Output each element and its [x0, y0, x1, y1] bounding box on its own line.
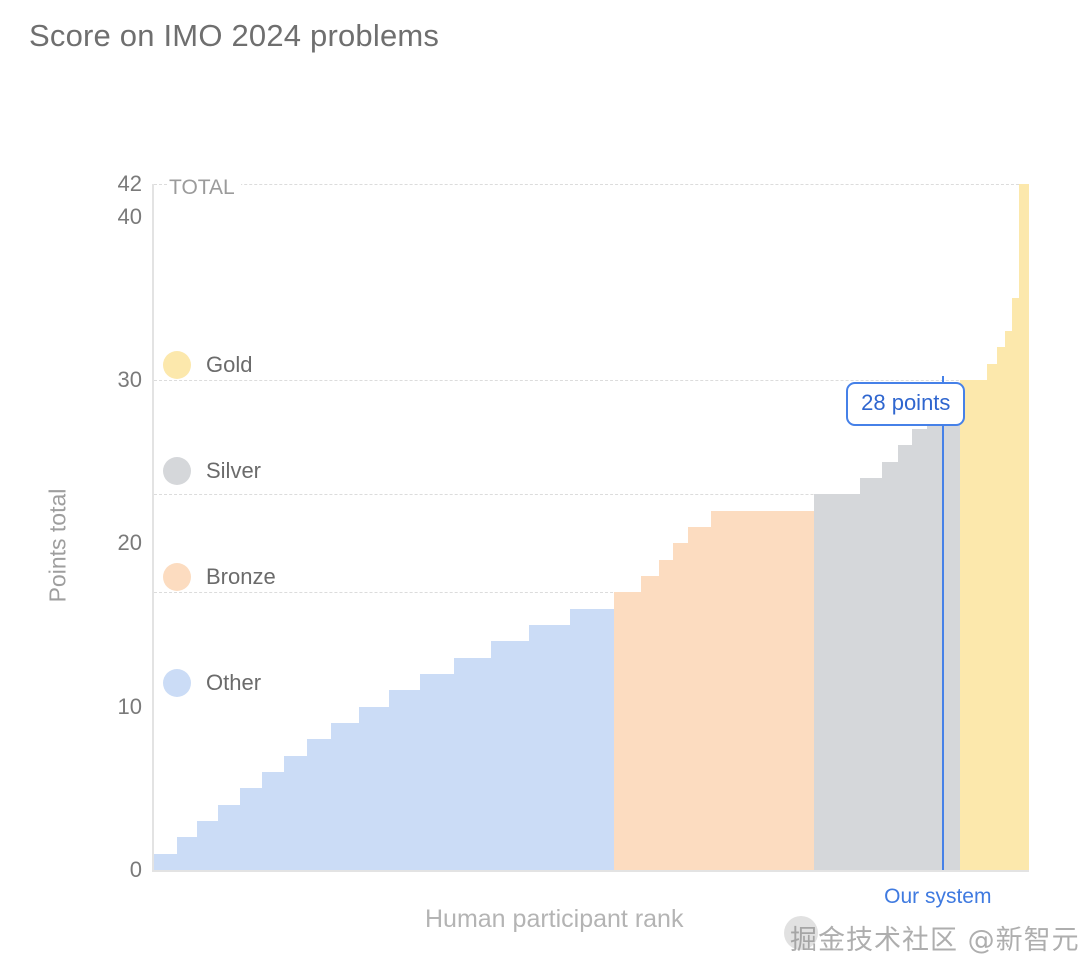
step-bar — [262, 772, 285, 870]
gridline — [154, 380, 1029, 381]
gridline — [154, 184, 1029, 185]
legend-swatch-bronze-icon — [163, 563, 191, 591]
step-bar — [960, 380, 988, 870]
legend-label: Bronze — [206, 564, 276, 590]
watermark-text: 掘金技术社区 @新智元 — [790, 918, 1080, 957]
chart-page: Score on IMO 2024 problems Points total … — [0, 0, 1080, 976]
step-bar — [284, 756, 307, 870]
step-bar — [177, 837, 198, 870]
y-axis-title: Points total — [45, 446, 72, 646]
step-bar — [154, 854, 177, 870]
page-title: Score on IMO 2024 problems — [29, 18, 439, 54]
points-callout: 28 points — [846, 382, 965, 426]
y-tick-label: 30 — [82, 367, 142, 393]
total-marker-label: TOTAL — [167, 176, 241, 200]
our-system-marker-line — [942, 376, 944, 870]
step-bar — [240, 788, 262, 870]
step-bar — [814, 494, 861, 870]
step-bar — [359, 707, 389, 870]
step-bar — [331, 723, 360, 870]
step-bar — [912, 429, 927, 870]
y-tick-label: 20 — [82, 530, 142, 556]
legend-swatch-gold-icon — [163, 351, 191, 379]
y-tick-label: 0 — [82, 857, 142, 883]
legend-item-silver: Silver — [163, 418, 276, 524]
y-tick-label: 42 — [82, 171, 142, 197]
y-axis-ticks: 01020304042 — [82, 184, 142, 870]
step-bar — [389, 690, 421, 870]
step-bar — [614, 592, 642, 870]
legend-swatch-other-icon — [163, 669, 191, 697]
legend-swatch-silver-icon — [163, 457, 191, 485]
step-bar — [882, 462, 898, 870]
step-bar — [688, 527, 712, 870]
x-axis-title: Human participant rank — [425, 905, 683, 934]
y-tick-label: 40 — [82, 204, 142, 230]
legend-label: Gold — [206, 352, 252, 378]
legend-item-gold: Gold — [163, 312, 276, 418]
legend-label: Other — [206, 670, 261, 696]
step-bar — [570, 609, 615, 870]
step-bar — [491, 641, 530, 870]
step-bar — [218, 805, 240, 870]
step-bar — [898, 445, 913, 870]
plot-area — [152, 184, 1029, 872]
step-bar — [307, 739, 331, 870]
legend-label: Silver — [206, 458, 261, 484]
legend-item-other: Other — [163, 630, 276, 736]
step-bar — [673, 543, 688, 870]
step-bar — [1019, 184, 1030, 870]
y-tick-label: 10 — [82, 694, 142, 720]
our-system-label: Our system — [884, 885, 991, 909]
step-bar — [197, 821, 219, 870]
legend-item-bronze: Bronze — [163, 524, 276, 630]
step-bar — [641, 576, 659, 870]
step-bar — [944, 396, 960, 870]
legend: GoldSilverBronzeOther — [163, 312, 276, 736]
step-bar — [659, 560, 674, 870]
step-bar — [420, 674, 455, 870]
step-bar — [454, 658, 491, 870]
step-bar — [711, 511, 814, 870]
plot-inner — [154, 184, 1029, 870]
step-bar — [860, 478, 882, 870]
step-bar — [529, 625, 570, 870]
